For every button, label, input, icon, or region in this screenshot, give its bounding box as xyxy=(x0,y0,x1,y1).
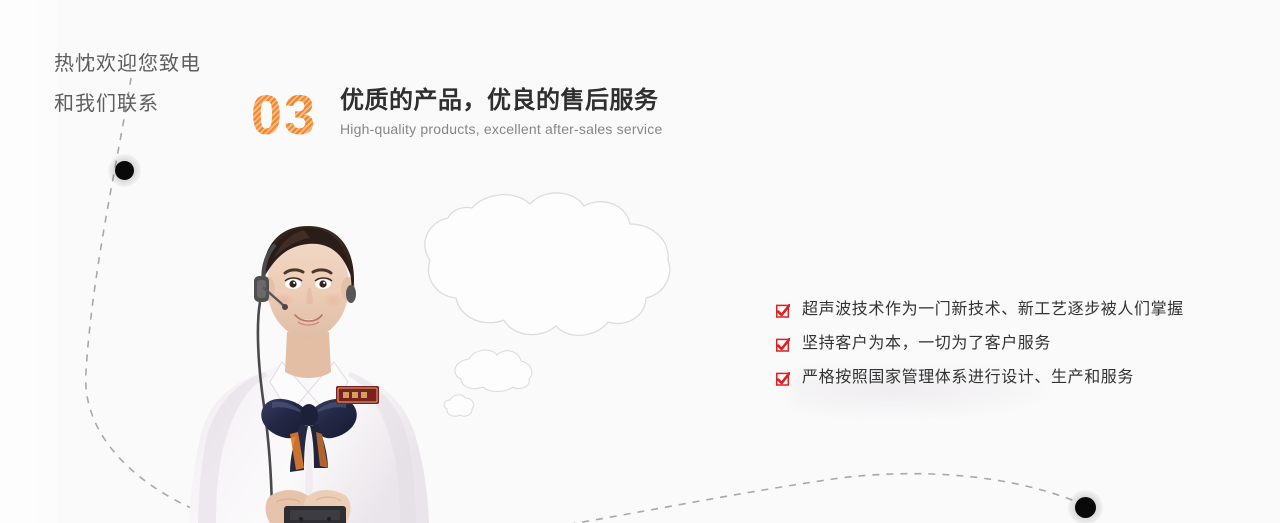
list-item: 坚持客户为本，一切为了客户服务 xyxy=(776,334,1184,354)
speech-bubble-text: 热忱欢迎您致电 和我们联系 xyxy=(54,44,254,124)
list-item-label: 严格按照国家管理体系进行设计、生产和服务 xyxy=(802,368,1134,388)
page-title: 优质的产品，优良的售后服务 xyxy=(340,86,662,116)
heading-text-block: 优质的产品，优良的售后服务 High-quality products, exc… xyxy=(340,86,662,137)
page-subtitle: High-quality products, excellent after-s… xyxy=(340,121,662,137)
speech-bubble xyxy=(398,186,680,344)
list-item-label: 坚持客户为本，一切为了客户服务 xyxy=(802,334,1051,354)
curve-dot-bottom xyxy=(1068,490,1103,523)
check-icon xyxy=(776,372,790,386)
speech-bubble-trail-large xyxy=(447,345,537,393)
list-item: 超声波技术作为一门新技术、新工艺逐步被人们掌握 xyxy=(776,300,1184,320)
agent-photo xyxy=(186,176,432,523)
feature-checklist: 超声波技术作为一门新技术、新工艺逐步被人们掌握 坚持客户为本，一切为了客户服务 … xyxy=(776,300,1184,388)
section-heading: 03 优质的产品，优良的售后服务 High-quality products, … xyxy=(248,86,662,144)
curve-dot-core xyxy=(1075,497,1096,518)
agent-head xyxy=(261,226,355,338)
section-number-label: 03 xyxy=(251,87,317,143)
list-item: 严格按照国家管理体系进行设计、生产和服务 xyxy=(776,368,1184,388)
speech-bubble-trail-small xyxy=(441,392,478,419)
name-badge xyxy=(336,386,379,404)
section-number-badge: 03 xyxy=(248,86,320,144)
promo-banner: 03 优质的产品，优良的售后服务 High-quality products, … xyxy=(0,0,1280,523)
curve-dot-core xyxy=(115,161,134,180)
check-icon xyxy=(776,338,790,352)
list-item-label: 超声波技术作为一门新技术、新工艺逐步被人们掌握 xyxy=(802,300,1184,320)
check-icon xyxy=(776,304,790,318)
speech-bubble-line-2: 和我们联系 xyxy=(54,84,254,124)
speech-bubble-line-1: 热忱欢迎您致电 xyxy=(54,44,254,84)
curve-dot-top xyxy=(108,154,141,187)
